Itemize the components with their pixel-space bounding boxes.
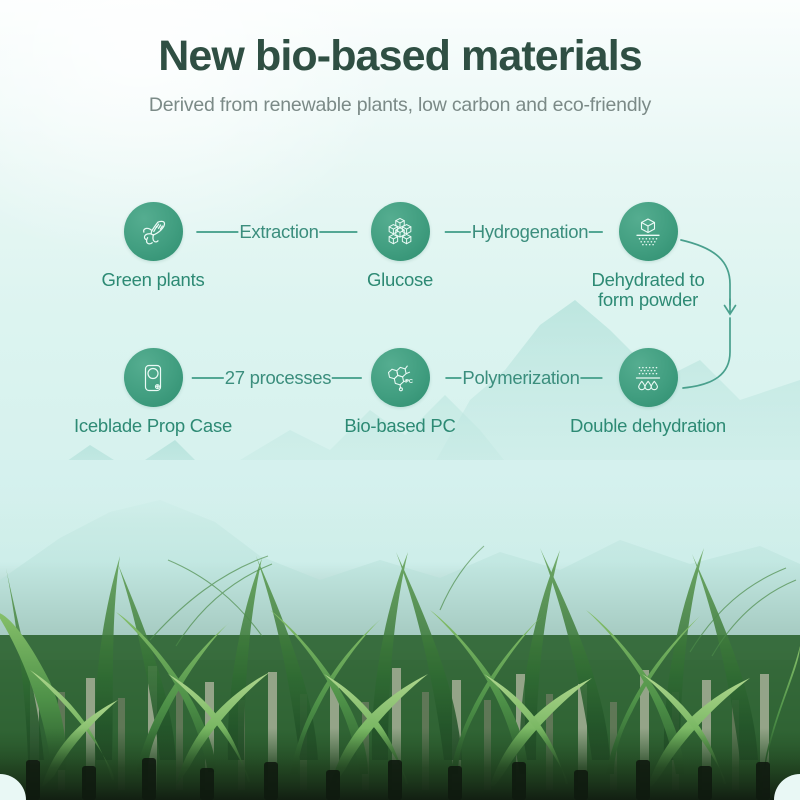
connector-line-right (589, 231, 603, 233)
powder-droplets-icon (630, 360, 666, 396)
flow-node-double-dehydration[interactable]: Double dehydration (583, 348, 713, 436)
cube-powder-icon (630, 214, 666, 250)
flow-connector-polymerization: Polymerization (445, 367, 602, 389)
connector-label: 27 processes (224, 367, 332, 389)
phone-case-icon (137, 362, 169, 394)
node-label: Double dehydration (548, 416, 748, 436)
connector-line-left (445, 377, 461, 379)
node-disc (124, 202, 183, 261)
connector-line-left (445, 231, 471, 233)
photo-top-fade (0, 460, 800, 520)
connector-line-left (196, 231, 238, 233)
node-label: Green plants (88, 270, 218, 290)
flow-node-green-plants[interactable]: Green plants (88, 202, 218, 290)
node-disc (124, 348, 183, 407)
node-disc (619, 202, 678, 261)
connector-label: Hydrogenation (471, 221, 589, 243)
connector-line-right (320, 231, 358, 233)
connector-label: Polymerization (461, 367, 580, 389)
pc-molecule-icon: PC (383, 361, 417, 395)
flow-node-dehydrated-powder[interactable]: Dehydrated to form powder (583, 202, 713, 310)
sugar-cubes-icon (383, 215, 417, 249)
node-label: Iceblade Prop Case (53, 416, 253, 436)
flow-node-glucose[interactable]: Glucose (335, 202, 465, 290)
node-disc: PC (371, 348, 430, 407)
flow-connector-hydrogenation: Hydrogenation (445, 221, 603, 243)
node-label: Glucose (335, 270, 465, 290)
node-label: Dehydrated to form powder (548, 270, 748, 310)
flow-connector-27-processes: 27 processes (192, 367, 362, 389)
connector-line-right (581, 377, 603, 379)
node-disc (619, 348, 678, 407)
flow-connector-extraction: Extraction (196, 221, 357, 243)
connector-label: Extraction (238, 221, 319, 243)
node-label: Bio-based PC (300, 416, 500, 436)
poster-canvas: New bio-based materials Derived from ren… (0, 0, 800, 800)
connector-line-right (332, 377, 362, 379)
process-flow-diagram: Green plants (0, 0, 800, 470)
node-disc (371, 202, 430, 261)
connector-line-left (192, 377, 224, 379)
flow-node-iceblade-prop-case[interactable]: Iceblade Prop Case (88, 348, 218, 436)
sugarcane-field-photo (0, 460, 800, 800)
corn-icon (136, 215, 170, 249)
flow-node-bio-based-pc[interactable]: PC Bio-based PC (335, 348, 465, 436)
svg-text:PC: PC (405, 379, 413, 385)
